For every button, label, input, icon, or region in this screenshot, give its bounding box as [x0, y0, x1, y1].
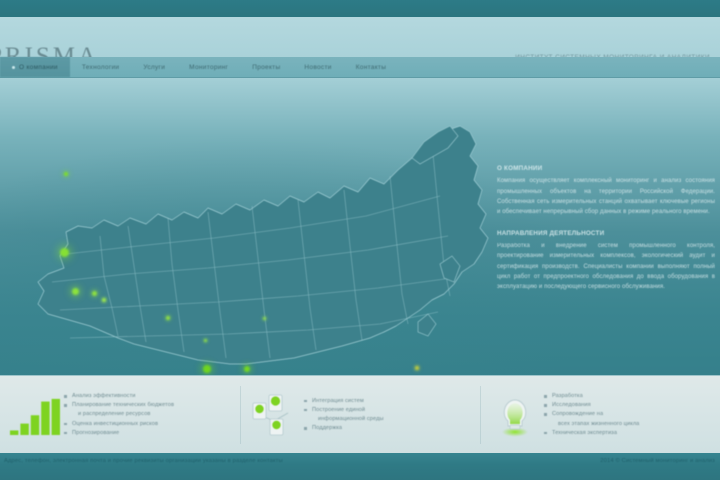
info-sidebar: О КОМПАНИИ Компания осуществляет комплек… [497, 164, 715, 304]
footer-copyright: 2014 © Системный мониторинг и анализ [600, 458, 715, 464]
nav-item-4[interactable]: Проекты [240, 57, 292, 77]
feature-list-item: Оценка инвестиционных рисков [64, 420, 174, 429]
feature-list-item: всех этапах жизненного цикла [544, 420, 639, 429]
nav-items-container: О компанииТехнологииУслугиМониторингПрое… [0, 57, 398, 77]
info-block: О КОМПАНИИ Компания осуществляет комплек… [497, 164, 715, 218]
footer-contact-note: Адрес, телефон, электронная почта и проч… [4, 458, 283, 464]
nav-item-label: Технологии [82, 64, 120, 71]
nav-item-label: Проекты [252, 64, 280, 71]
lightbulb-icon [486, 388, 544, 442]
nav-item-0[interactable]: О компании [0, 57, 70, 77]
bar-chart-bar [52, 399, 60, 435]
feature-list-item: Поддержка [304, 424, 384, 433]
feature-list: Анализ эффективностиПланирование техниче… [64, 392, 174, 437]
top-strip [0, 0, 720, 17]
bar-chart-bar [31, 415, 39, 435]
nav-item-5[interactable]: Новости [292, 57, 343, 77]
info-block-body: Разработка и внедрение систем промышленн… [497, 241, 715, 293]
bar-chart-bar [10, 430, 18, 435]
nav-item-2[interactable]: Услуги [131, 57, 177, 77]
feature-list-item: Исследования [544, 401, 639, 410]
info-block-body: Компания осуществляет комплексный монито… [497, 176, 715, 217]
nav-item-label: Контакты [356, 64, 386, 71]
nav-item-6[interactable]: Контакты [344, 57, 398, 77]
site-footer: Адрес, телефон, электронная почта и проч… [0, 453, 720, 480]
nav-item-3[interactable]: Мониторинг [177, 57, 240, 77]
feature-list-item: Планирование технических бюджетов [64, 401, 174, 410]
feature-list-item: Интеграция систем [304, 397, 384, 406]
feature-column-integration: Интеграция системПостроение единойинформ… [240, 376, 480, 454]
map-stage: О КОМПАНИИ Компания осуществляет комплек… [0, 78, 720, 375]
nav-item-1[interactable]: Технологии [70, 57, 132, 77]
nav-item-label: Новости [304, 64, 331, 71]
russia-map[interactable] [8, 86, 498, 371]
main-navigation: О компанииТехнологииУслугиМониторингПрое… [0, 57, 720, 78]
site-header: PRISMA ИНСТИТУТ СИСТЕМНЫХ МОНИТОРИНГА И … [0, 17, 720, 58]
nav-item-label: Услуги [143, 64, 165, 71]
feature-list-item: Техническая экспертиза [544, 429, 639, 438]
features-panel: Анализ эффективностиПланирование техниче… [0, 375, 720, 455]
feature-column-analytics: Анализ эффективностиПланирование техниче… [0, 376, 240, 454]
feature-list-item: Построение единой [304, 406, 384, 415]
feature-list: РазработкаИсследованияСопровождение навс… [544, 392, 639, 437]
nav-item-label: О компании [19, 64, 58, 71]
bar-chart-icon [6, 388, 64, 442]
feature-list-item: Сопровождение на [544, 410, 639, 419]
info-block: НАПРАВЛЕНИЯ ДЕЯТЕЛЬНОСТИ Разработка и вн… [497, 229, 715, 293]
page-root: PRISMA ИНСТИТУТ СИСТЕМНЫХ МОНИТОРИНГА И … [0, 0, 720, 480]
feature-column-development: РазработкаИсследованияСопровождение навс… [480, 376, 720, 454]
network-nodes-icon [246, 388, 304, 442]
feature-list-item: информационной среды [304, 415, 384, 424]
feature-list-item: и распределение ресурсов [64, 410, 174, 419]
feature-list-item: Прогнозирование [64, 429, 174, 438]
feature-list: Интеграция системПостроение единойинформ… [304, 397, 384, 433]
info-block-title: НАПРАВЛЕНИЯ ДЕЯТЕЛЬНОСТИ [497, 229, 715, 238]
bar-chart-bar [20, 424, 28, 435]
info-block-title: О КОМПАНИИ [497, 164, 715, 173]
feature-list-item: Разработка [544, 392, 639, 401]
feature-list-item: Анализ эффективности [64, 392, 174, 401]
bar-chart-bar [41, 402, 49, 435]
nav-item-label: Мониторинг [189, 64, 228, 71]
